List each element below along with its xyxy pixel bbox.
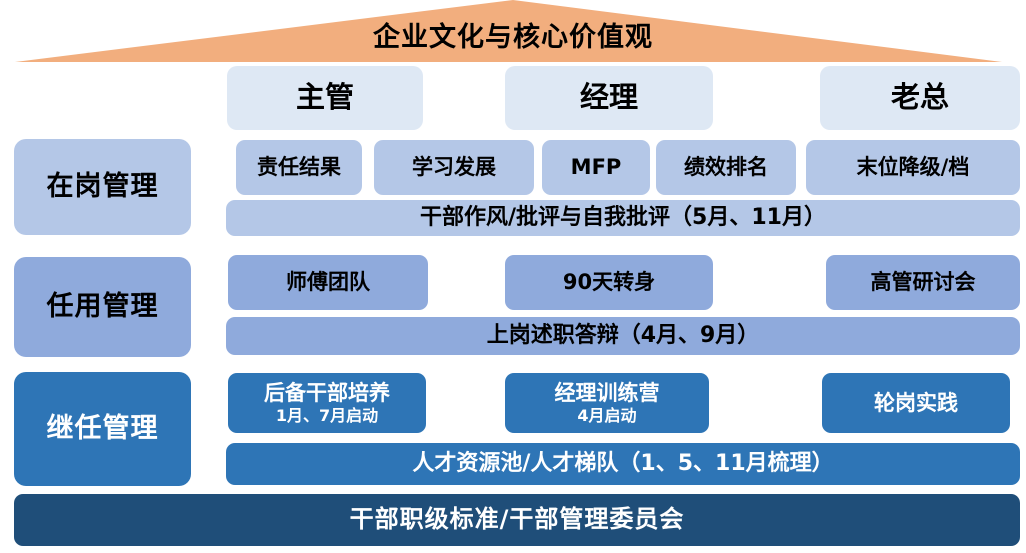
level-header-label: 老总	[891, 81, 949, 114]
item-label: 上岗述职答辩（4月、9月）	[487, 323, 760, 348]
item-label: 干部作风/批评与自我批评（5月、11月）	[420, 205, 826, 230]
row1-item-bottom-rank-demotion[interactable]: 末位降级/档	[806, 140, 1020, 195]
level-header-label: 经理	[580, 81, 638, 114]
item-sublabel: 4月启动	[577, 407, 636, 425]
row3-item-reserve-cadre-training[interactable]: 后备干部培养 1月、7月启动	[228, 373, 426, 433]
item-label: 绩效排名	[684, 155, 768, 179]
row1-fullwidth-cadre-style-criticism[interactable]: 干部作风/批评与自我批评（5月、11月）	[226, 200, 1020, 236]
level-header-executive[interactable]: 老总	[820, 66, 1020, 130]
row1-item-learning-development[interactable]: 学习发展	[374, 140, 534, 195]
row-label-text: 任用管理	[47, 291, 159, 322]
foundation-label: 干部职级标准/干部管理委员会	[350, 506, 685, 534]
item-label: 人才资源池/人才梯队（1、5、11月梳理）	[412, 451, 833, 476]
item-sublabel: 1月、7月启动	[276, 407, 378, 425]
item-label: MFP	[571, 155, 622, 179]
level-header-supervisor[interactable]: 主管	[227, 66, 423, 130]
row2-item-mentor-team[interactable]: 师傅团队	[228, 255, 428, 310]
row-label-text: 在岗管理	[47, 171, 159, 202]
row3-fullwidth-talent-pool[interactable]: 人才资源池/人才梯队（1、5、11月梳理）	[226, 443, 1020, 485]
row1-item-mfp[interactable]: MFP	[542, 140, 650, 195]
item-label: 90天转身	[563, 270, 655, 294]
item-label: 后备干部培养	[264, 381, 390, 405]
item-label: 轮岗实践	[874, 391, 958, 415]
row1-item-performance-ranking[interactable]: 绩效排名	[656, 140, 796, 195]
row2-fullwidth-onboarding-defense[interactable]: 上岗述职答辩（4月、9月）	[226, 317, 1020, 355]
row3-item-manager-bootcamp[interactable]: 经理训练营 4月启动	[505, 373, 709, 433]
item-label: 师傅团队	[286, 270, 370, 294]
item-label: 经理训练营	[555, 381, 660, 405]
roof-label: 企业文化与核心价值观	[0, 24, 1026, 51]
item-label: 学习发展	[412, 155, 496, 179]
row-label-succession-management[interactable]: 继任管理	[14, 372, 191, 486]
row3-item-job-rotation-practice[interactable]: 轮岗实践	[822, 373, 1010, 433]
row2-item-executive-seminar[interactable]: 高管研讨会	[826, 255, 1020, 310]
item-label: 末位降级/档	[857, 155, 970, 179]
org-talent-management-diagram: 企业文化与核心价值观 主管 经理 老总 在岗管理 任用管理 继任管理 责任结果 …	[0, 0, 1026, 553]
level-header-manager[interactable]: 经理	[505, 66, 713, 130]
row1-item-responsibility-result[interactable]: 责任结果	[236, 140, 362, 195]
item-label: 责任结果	[257, 155, 341, 179]
row-label-appointment-management[interactable]: 任用管理	[14, 257, 191, 357]
row2-item-90-day-transition[interactable]: 90天转身	[505, 255, 713, 310]
level-header-label: 主管	[296, 81, 354, 114]
row-label-onjob-management[interactable]: 在岗管理	[14, 139, 191, 235]
foundation-bar-cadre-standards[interactable]: 干部职级标准/干部管理委员会	[14, 494, 1020, 546]
item-label: 高管研讨会	[871, 270, 976, 294]
row-label-text: 继任管理	[47, 413, 159, 444]
